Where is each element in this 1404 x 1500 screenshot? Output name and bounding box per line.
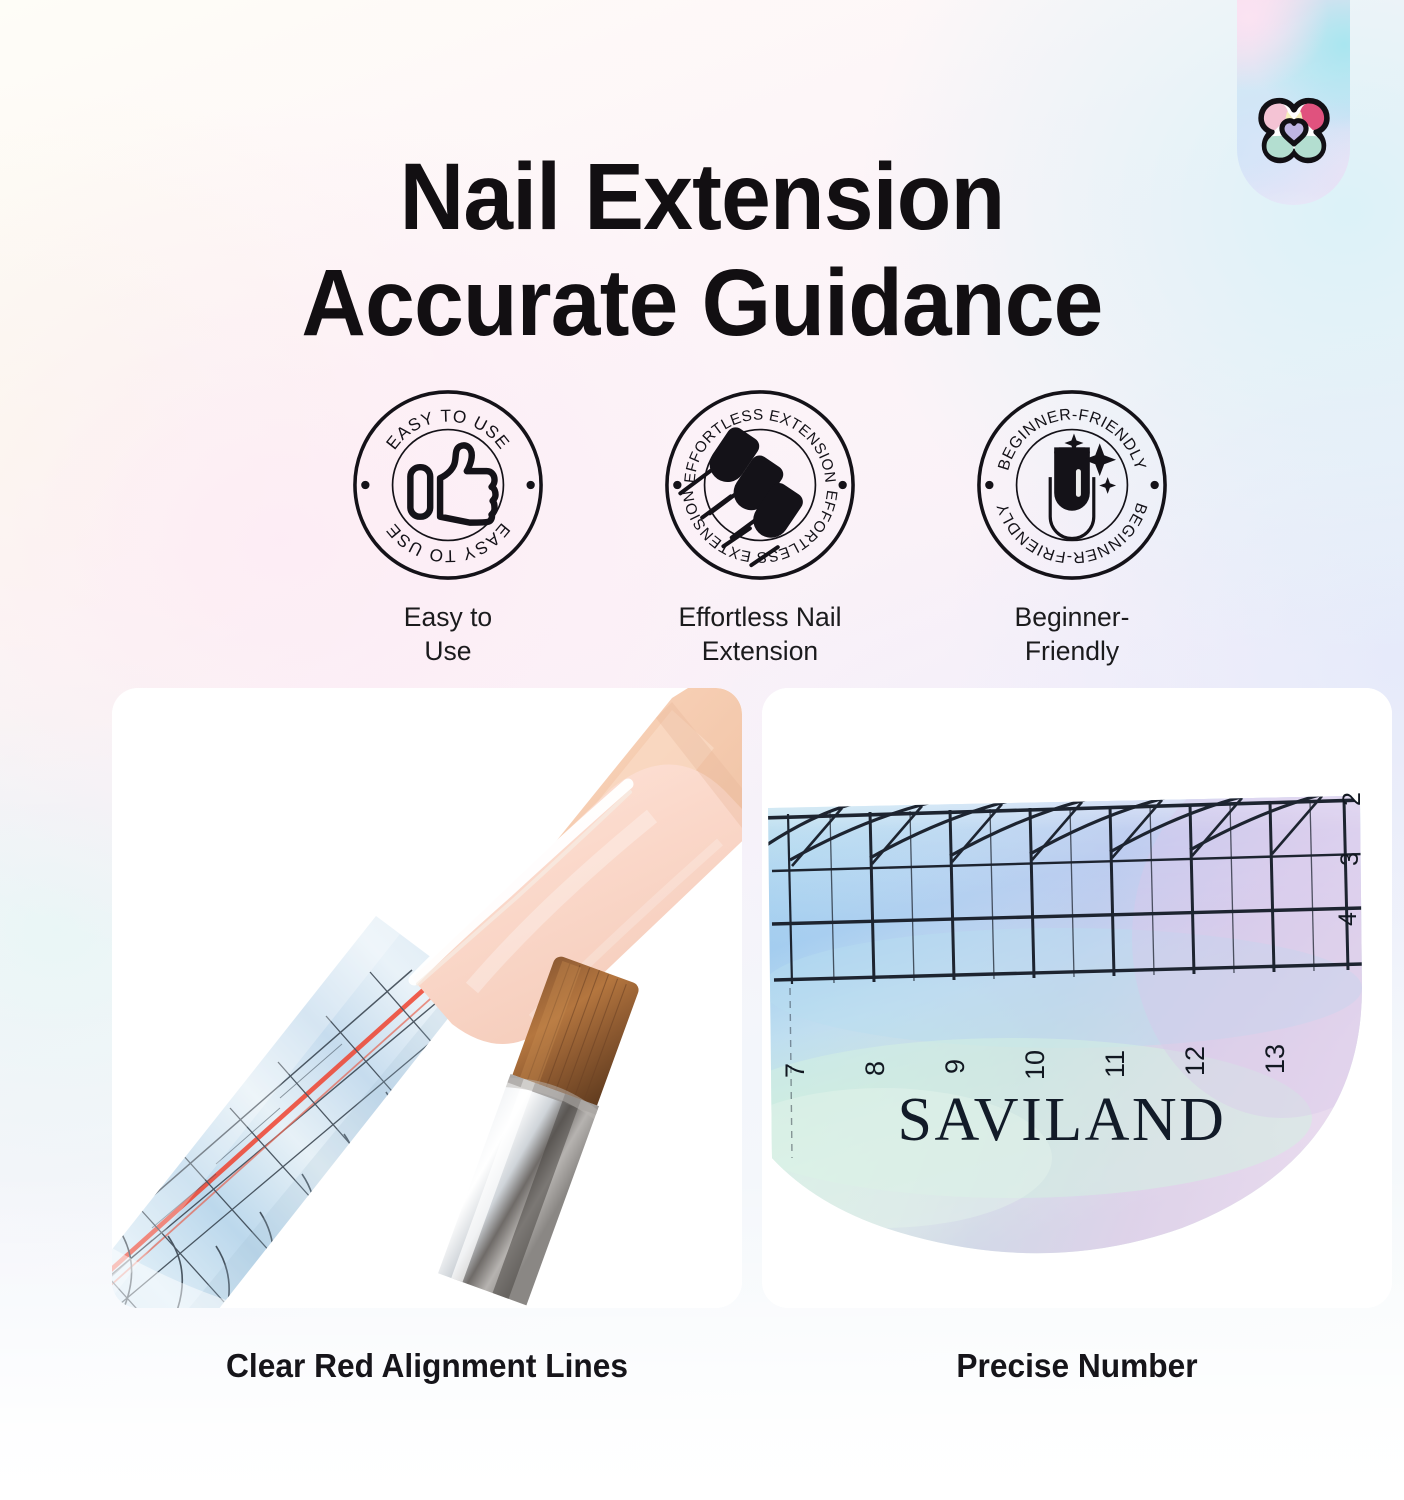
badge-label-easy-to-use: Easy to Use	[330, 600, 566, 668]
card-precise-number: 7 8 9 10 11 12 13 1 2 3 4	[762, 688, 1392, 1308]
badge-label-effortless-extension: Effortless Nail Extension	[642, 600, 878, 668]
saviland-wordmark: SAVILAND	[898, 1086, 1227, 1154]
svg-text:9: 9	[940, 1059, 970, 1074]
card-captions: Clear Red Alignment Lines Precise Number	[112, 1344, 1392, 1404]
card-clear-red-alignment-lines	[112, 688, 742, 1308]
nail-form-with-brush-photo	[112, 688, 742, 1308]
svg-text:EASY TO USE: EASY TO USE	[382, 520, 515, 567]
badge-beginner-friendly: BEGINNER-FRIENDLY BEGINNER-FRIENDLY	[954, 386, 1190, 668]
badge-easy-to-use: EASY TO USE EASY TO USE Easy to Use	[330, 386, 566, 668]
nail-form-ruler-photo: 7 8 9 10 11 12 13 1 2 3 4	[762, 688, 1392, 1308]
finger-with-polished-nail-icon	[1050, 434, 1116, 539]
svg-text:12: 12	[1180, 1046, 1210, 1076]
svg-text:11: 11	[1100, 1050, 1130, 1078]
svg-text:13: 13	[1260, 1044, 1290, 1074]
badge-label-beginner-friendly: Beginner- Friendly	[954, 600, 1190, 668]
page-title: Nail Extension Accurate Guidance	[0, 144, 1404, 356]
effortless-extension-seal-icon: EFFORTLESS EXTENSION EFFORTLESS EXTENSIO…	[661, 386, 859, 584]
title-line-2: Accurate Guidance	[42, 250, 1362, 356]
badge-effortless-extension: EFFORTLESS EXTENSION EFFORTLESS EXTENSIO…	[642, 386, 878, 668]
feature-badge-row: EASY TO USE EASY TO USE Easy to Use	[330, 386, 1190, 668]
feature-photo-cards: 7 8 9 10 11 12 13 1 2 3 4	[112, 688, 1392, 1308]
title-line-1: Nail Extension	[42, 144, 1362, 250]
seal-text-bottom: EASY TO USE	[382, 520, 515, 567]
svg-text:8: 8	[860, 1061, 890, 1076]
caption-precise-number: Precise Number	[775, 1344, 1380, 1404]
easy-to-use-seal-icon: EASY TO USE EASY TO USE	[349, 386, 547, 584]
svg-text:3: 3	[1336, 852, 1364, 866]
product-feature-page: Nail Extension Accurate Guidance EASY TO…	[0, 0, 1404, 1500]
beginner-friendly-seal-icon: BEGINNER-FRIENDLY BEGINNER-FRIENDLY	[973, 386, 1171, 584]
svg-text:10: 10	[1020, 1050, 1050, 1080]
svg-text:4: 4	[1334, 912, 1362, 926]
svg-text:2: 2	[1338, 792, 1366, 806]
thumbs-up-icon	[410, 445, 495, 522]
caption-clear-red-alignment-lines: Clear Red Alignment Lines	[125, 1344, 730, 1404]
svg-text:7: 7	[780, 1063, 810, 1078]
